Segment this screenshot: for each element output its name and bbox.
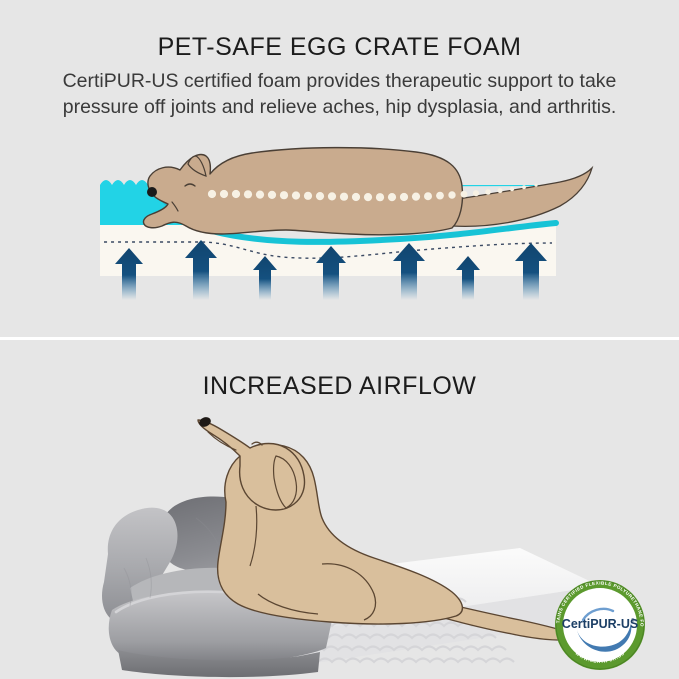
product-infographic: PET-SAFE EGG CRATE FOAM CertiPUR-US cert… [0, 0, 679, 679]
panel-top-body-copy: CertiPUR-US certified foam provides ther… [22, 68, 657, 120]
badge-trademark: ® [631, 617, 635, 624]
illustration-foam-cross-section [0, 130, 679, 330]
bolster-bed-svg: CertiPUR-US ® CONTAINS CERTIFIED FLEXIBL… [0, 398, 679, 679]
page-title-bottom: INCREASED AIRFLOW [0, 372, 679, 401]
dog-nose [147, 187, 157, 197]
badge-wordmark: CertiPUR-US [562, 617, 638, 631]
body-line-1: CertiPUR-US certified foam provides ther… [22, 68, 657, 94]
foam-cross-section-svg [0, 130, 679, 330]
illustration-bolster-bed-airflow: CertiPUR-US ® CONTAINS CERTIFIED FLEXIBL… [0, 398, 679, 679]
body-line-2: pressure off joints and relieve aches, h… [22, 94, 657, 120]
page-title-top: PET-SAFE EGG CRATE FOAM [0, 33, 679, 62]
panel-pet-safe-egg-crate-foam: PET-SAFE EGG CRATE FOAM CertiPUR-US cert… [0, 0, 679, 337]
dog-tail [452, 168, 592, 226]
